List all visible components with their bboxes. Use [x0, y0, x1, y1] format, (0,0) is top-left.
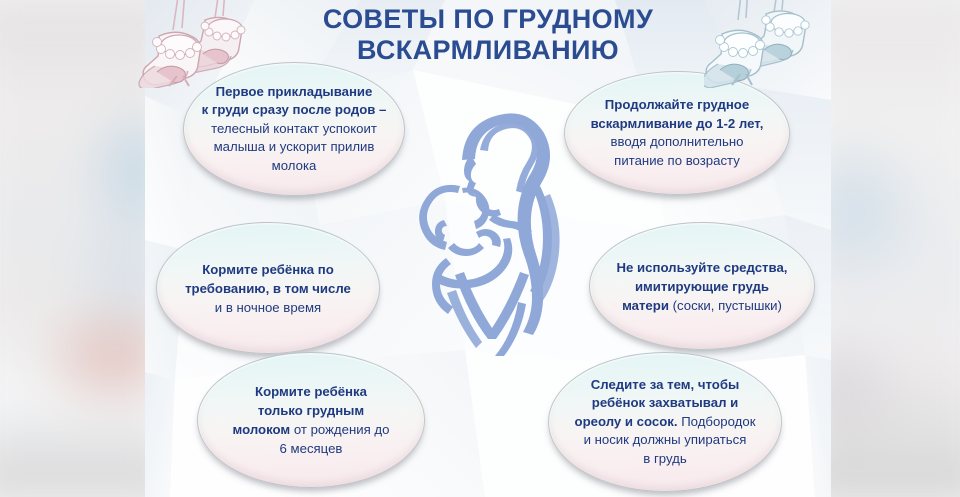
tip-line: Следите за тем, чтобы [565, 376, 765, 395]
tip-line: Не используйте средства, [606, 258, 798, 277]
title-line-1: СОВЕТЫ ПО ГРУДНОМУ [145, 4, 831, 35]
title-line-2: ВСКАРМЛИВАНИЮ [145, 35, 831, 66]
tip-line: к груди сразу после родов – [200, 101, 388, 120]
tip-line: ребёнок захватывал и [565, 394, 765, 413]
tip-bubble-5[interactable]: Кормите ребёнкатолько грудныммолоком от … [197, 352, 425, 488]
tip-bubble-2[interactable]: Продолжайте грудноевскармливание до 1-2 … [564, 71, 790, 195]
tip-line: требованию, в том числе [173, 279, 363, 298]
mother-and-baby-silhouette-icon [398, 108, 582, 356]
tip-line: питание по возрасту [581, 152, 773, 171]
tip-bubble-1-text: Первое прикладываниек груди сразу после … [200, 83, 388, 176]
tip-bubble-5-text: Кормите ребёнкатолько грудныммолоком от … [214, 382, 408, 458]
tip-line: молоком от рождения до [214, 420, 408, 439]
tip-bubble-2-text: Продолжайте грудноевскармливание до 1-2 … [581, 96, 773, 170]
tip-line: и носик должны упираться [565, 431, 765, 450]
tip-line: имитирующие грудь [606, 277, 798, 296]
tip-line: только грудным [214, 401, 408, 420]
tip-line: вскармливание до 1-2 лет, [581, 115, 773, 134]
tip-line: молока [200, 157, 388, 176]
tip-line: в грудь [565, 450, 765, 469]
tip-line: Кормите ребёнка по [173, 260, 363, 279]
tip-bubble-3[interactable]: Кормите ребёнка потребованию, в том числ… [156, 222, 380, 354]
breastfeeding-tips-infographic: СОВЕТЫ ПО ГРУДНОМУ ВСКАРМЛИВАНИЮ [0, 0, 960, 497]
tip-line: вводя дополнительно [581, 133, 773, 152]
tip-line: матери (соски, пустышки) [606, 296, 798, 315]
tip-bubble-6-text: Следите за тем, чтобыребёнок захватывал … [565, 376, 765, 469]
tip-line: Продолжайте грудное [581, 96, 773, 115]
tip-line: Кормите ребёнка [214, 382, 408, 401]
tip-line: ореолу и сосок. Подбородок [565, 413, 765, 432]
tip-line: и в ночное время [173, 298, 363, 317]
tip-bubble-4-text: Не используйте средства,имитирующие груд… [606, 258, 798, 315]
tip-line: 6 месяцев [214, 439, 408, 458]
tip-bubble-3-text: Кормите ребёнка потребованию, в том числ… [173, 260, 363, 317]
tip-bubble-4[interactable]: Не используйте средства,имитирующие груд… [589, 222, 815, 350]
tip-bubble-6[interactable]: Следите за тем, чтобыребёнок захватывал … [548, 352, 782, 492]
tip-line: телесный контакт успокоит [200, 120, 388, 139]
tip-line: малыша и ускорит прилив [200, 138, 388, 157]
page-title: СОВЕТЫ ПО ГРУДНОМУ ВСКАРМЛИВАНИЮ [145, 4, 831, 66]
